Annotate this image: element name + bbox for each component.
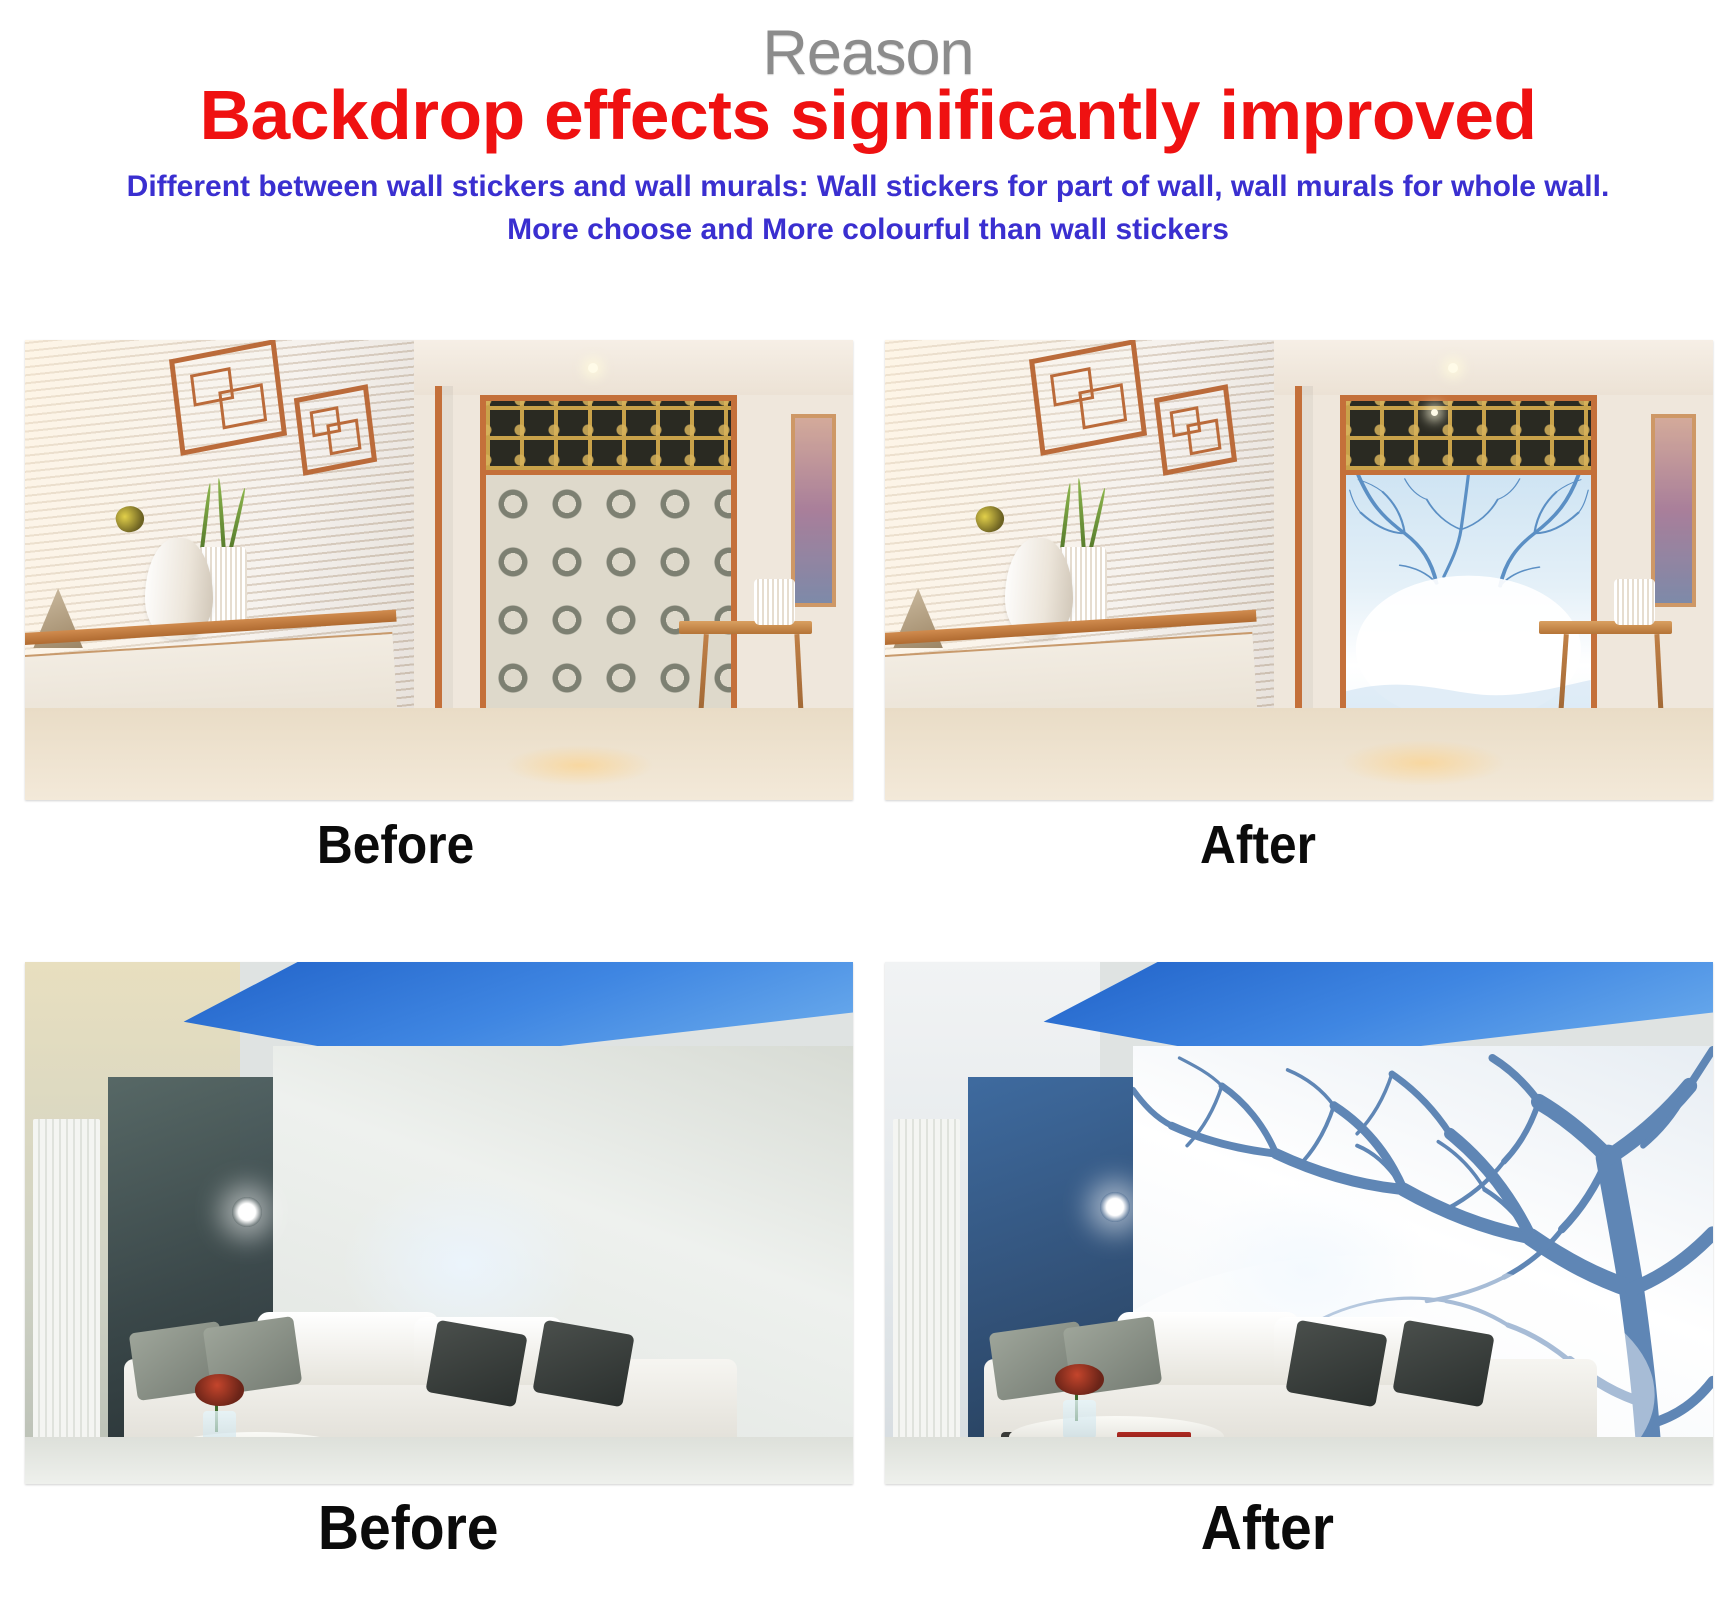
subtitle-line-1: Different between wall stickers and wall… [127,170,1610,203]
page-header: Reason Backdrop effects significantly im… [0,0,1736,252]
panel-living-before: Before [25,962,853,1582]
panel-living-after: After [885,962,1713,1582]
wall-artwork [791,414,837,607]
caption-living-after: After [1201,1498,1334,1560]
photo-hallway-before[interactable] [25,340,853,800]
table-ornament [754,579,795,625]
hexagon-wall-art-icon [1029,340,1147,456]
flower-bouquet [195,1374,245,1405]
floor [25,708,853,800]
caption-hallway-after: After [1200,818,1316,872]
hexagon-wall-art-icon [169,340,287,456]
lattice-screen [1346,401,1591,475]
glass-vase [1063,1400,1096,1442]
floor-light-reflection [505,745,654,786]
floor [25,1437,853,1484]
lattice-screen [486,401,731,475]
caption-living-before: Before [318,1498,499,1560]
lattice-medallions [1346,401,1591,470]
photo-living-after[interactable] [885,962,1713,1484]
recessed-light-icon [588,363,598,373]
blue-tree-mural [1346,475,1591,738]
photo-living-before[interactable] [25,962,853,1484]
table-ornament [1614,579,1655,625]
page-title: Backdrop effects significantly improved [0,79,1736,153]
caption-hallway-before: Before [317,818,474,872]
lattice-medallions [486,401,731,470]
radiator [33,1119,99,1443]
hexagon-wall-art-icon [294,384,377,476]
radiator [893,1119,959,1443]
panel-hallway-after: After [885,340,1713,900]
recessed-light-icon [1448,363,1458,373]
comparison-row-living-room: Before [0,962,1736,1582]
comparison-row-hallway: Before [0,330,1736,890]
spot-light-icon [1100,1192,1130,1222]
doorway-frame [435,386,453,763]
feature-wall-frame [1340,395,1597,745]
floor [885,708,1713,800]
comparison-grid: Before [0,330,1736,1582]
wallpaper-circle-pattern [486,475,731,738]
photo-hallway-after[interactable] [885,340,1713,800]
doorway-frame [1295,386,1313,763]
floor-light-reflection [1340,740,1506,786]
spot-light-icon [232,1197,262,1227]
feature-wall-frame [480,395,737,745]
subtitle-block: Different between wall stickers and wall… [0,165,1736,252]
tree-branches-icon [1346,475,1591,738]
panel-hallway-before: Before [25,340,853,900]
hexagon-wall-art-icon [1154,384,1237,476]
wall-artwork [1651,414,1697,607]
floor [885,1437,1713,1484]
subtitle-line-2: More choose and More colourful than wall… [48,208,1688,252]
